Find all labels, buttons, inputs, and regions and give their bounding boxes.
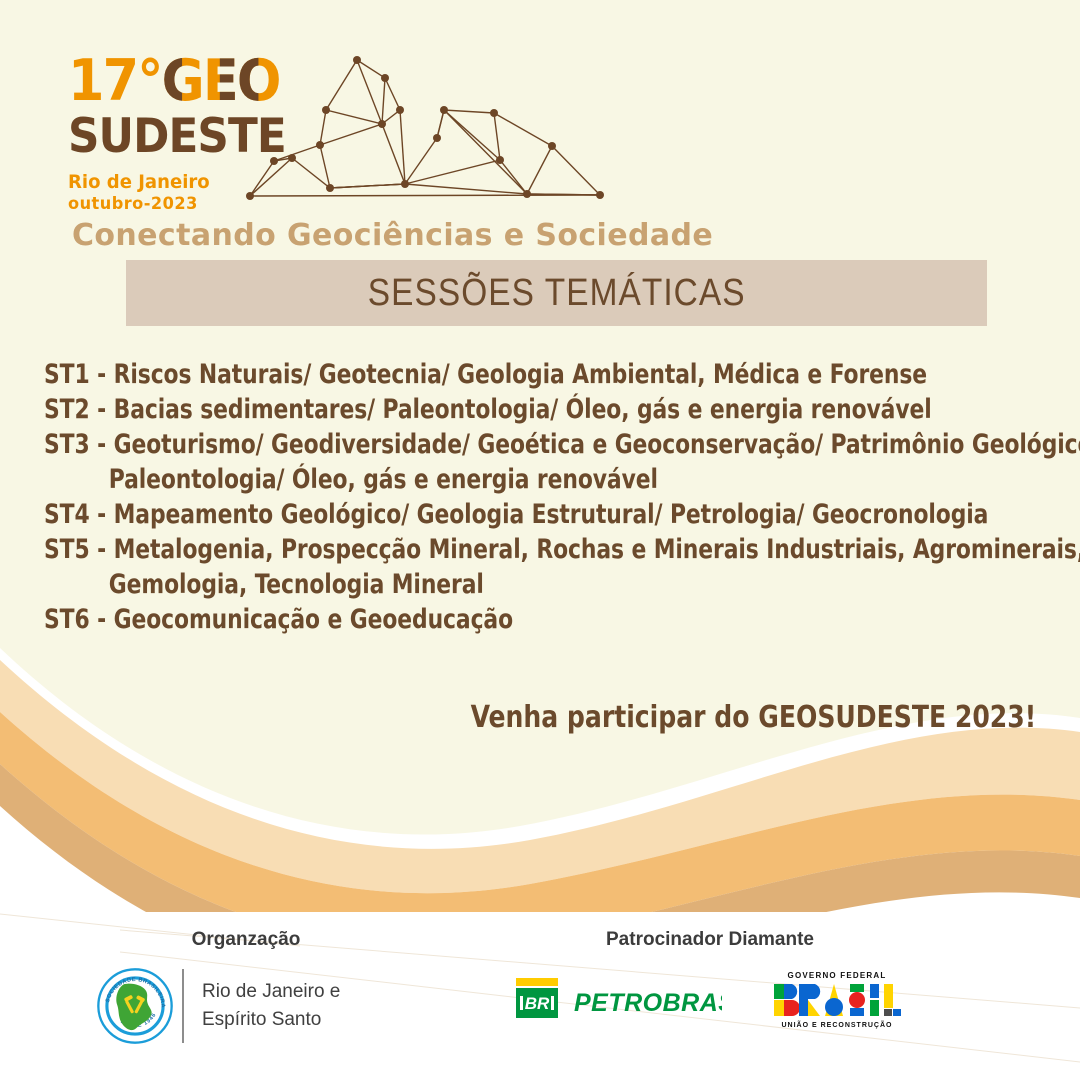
poster-canvas: 17°GGEEOO SUDESTE Rio de Janeiro outubro… [0,0,1080,1080]
logo-degree-symbol: ° [137,48,161,114]
session-sep-1: - [90,359,114,390]
session-text-1: Riscos Naturais/ Geotecnia/ Geologia Amb… [114,359,927,390]
session-code-2: ST2 [44,394,90,425]
session-row-1: ST1 - Riscos Naturais/ Geotecnia/ Geolog… [44,357,944,392]
event-tagline: Conectando Geociências e Sociedade [72,218,713,253]
logo-edition-number: 17 [68,48,137,114]
session-text-3: Geoturismo/ Geodiversidade/ Geoética e G… [114,429,1080,460]
organizacao-divider [182,969,184,1043]
mountain-network-icon [232,48,612,213]
session-code-3: ST3 [44,429,90,460]
session-sep-2: - [90,394,114,425]
section-title-text: SESSÕES TEMÁTICAS [368,272,746,315]
session-sep-4: - [90,499,114,530]
governo-federal-brasil-logo-icon: GOVERNO FEDERAL [766,969,908,1031]
svg-text:UNIÃO E RECONSTRUÇÃO: UNIÃO E RECONSTRUÇÃO [781,1020,892,1029]
section-title-banner: SESSÕES TEMÁTICAS [126,260,987,326]
svg-text:BR: BR [525,994,550,1013]
session-row-2: ST2 - Bacias sedimentares/ Paleontologia… [44,392,944,427]
svg-text:GOVERNO FEDERAL: GOVERNO FEDERAL [788,971,887,980]
organizacao-heading: Organzação [96,929,436,951]
organizacao-regional-text: Rio de Janeiro e Espírito Santo [202,978,340,1034]
session-row-5-continuation: Gemologia, Tecnologia Mineral [44,567,944,602]
patrocinador-heading: Patrocinador Diamante [500,929,920,951]
session-text-4: Mapeamento Geológico/ Geologia Estrutura… [114,499,989,530]
organizacao-logos: SOCIEDADE BRASILEIRA DE GEOLOGIA DESDE 1… [96,967,436,1045]
logo-letter-g: GG [162,52,203,110]
session-text-2: Bacias sedimentares/ Paleontologia/ Óleo… [114,394,932,425]
poster-header: 17°GGEEOO SUDESTE Rio de Janeiro outubro… [0,0,1080,250]
session-code-1: ST1 [44,359,90,390]
petrobras-logo-icon: BR PETROBRAS [514,977,722,1023]
organizacao-regional-line2: Espírito Santo [202,1006,340,1034]
session-row-3: ST3 - Geoturismo/ Geodiversidade/ Geoéti… [44,427,944,462]
session-code-5: ST5 [44,534,90,565]
footer-organization-column: Organzação SOCIEDADE BRASILEIRA DE GEOLO… [96,912,436,1045]
session-row-4: ST4 - Mapeamento Geológico/ Geologia Est… [44,497,944,532]
session-text-6: Geocomunicação e Geoeducação [114,604,513,635]
session-sep-3: - [90,429,114,460]
call-to-action-text: Venha participar do GEOSUDESTE 2023! [470,700,1036,735]
session-row-3-continuation: Paleontologia/ Óleo, gás e energia renov… [44,462,944,497]
session-text-5: Metalogenia, Prospecção Mineral, Rochas … [114,534,1080,565]
patrocinador-logos: BR PETROBRAS GOVERNO FEDERAL [500,969,920,1031]
session-sep-6: - [90,604,114,635]
footer-sponsor-column: Patrocinador Diamante BR PETROBRAS GOVER… [500,912,920,1031]
thematic-sessions-list: ST1 - Riscos Naturais/ Geotecnia/ Geolog… [44,357,1044,637]
poster-footer: Organzação SOCIEDADE BRASILEIRA DE GEOLO… [0,912,1080,1080]
session-row-5: ST5 - Metalogenia, Prospecção Mineral, R… [44,532,944,567]
session-sep-5: - [90,534,114,565]
session-code-6: ST6 [44,604,90,635]
svg-text:PETROBRAS: PETROBRAS [574,989,722,1017]
session-row-6: ST6 - Geocomunicação e Geoeducação [44,602,944,637]
session-code-4: ST4 [44,499,90,530]
organizacao-regional-line1: Rio de Janeiro e [202,978,340,1006]
sbg-seal-icon: SOCIEDADE BRASILEIRA DE GEOLOGIA DESDE 1… [96,967,174,1045]
